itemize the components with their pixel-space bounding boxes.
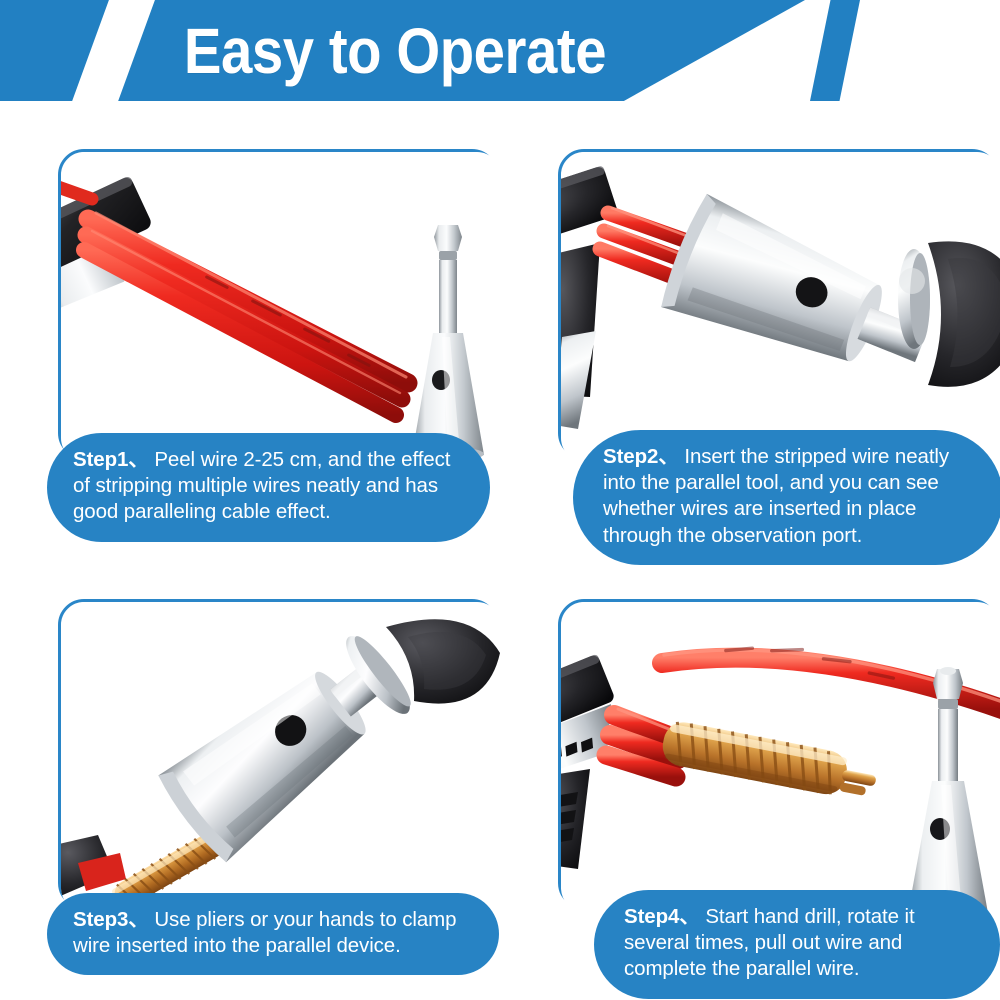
infographic-page: Easy to Operate bbox=[0, 0, 1000, 1000]
step-4-label: Step4、 bbox=[624, 905, 700, 928]
step-4-illustration bbox=[556, 597, 1000, 917]
step-3-caption: Step3、 Use pliers or your hands to clamp… bbox=[47, 893, 499, 975]
step-3-illustration bbox=[56, 597, 506, 917]
step-3-label: Step3、 bbox=[73, 908, 149, 931]
step-2-photo bbox=[556, 147, 1000, 467]
step-2-illustration bbox=[556, 147, 1000, 467]
step-4-photo bbox=[556, 597, 1000, 917]
steps-grid: Step1、 Peel wire 2-25 cm, and the effect… bbox=[0, 101, 1000, 1000]
step-4-caption: Step4、 Start hand drill, rotate it sever… bbox=[594, 890, 1000, 999]
header-banner: Easy to Operate bbox=[0, 0, 1000, 101]
step-4-panel bbox=[558, 599, 998, 909]
step-1-panel bbox=[58, 149, 498, 459]
step-3-photo bbox=[56, 597, 506, 917]
step-3-panel bbox=[58, 599, 498, 909]
step-2-caption: Step2、 Insert the stripped wire neatly i… bbox=[573, 430, 1000, 565]
step-1-illustration bbox=[56, 147, 506, 467]
banner-diagonal-stripe-right bbox=[810, 0, 860, 101]
step-2-label: Step2、 bbox=[603, 445, 679, 468]
step-1-caption: Step1、 Peel wire 2-25 cm, and the effect… bbox=[47, 433, 490, 542]
step-1-label: Step1、 bbox=[73, 448, 149, 471]
step-2-panel bbox=[558, 149, 998, 459]
step-1-photo bbox=[56, 147, 506, 467]
page-title: Easy to Operate bbox=[47, 0, 742, 101]
